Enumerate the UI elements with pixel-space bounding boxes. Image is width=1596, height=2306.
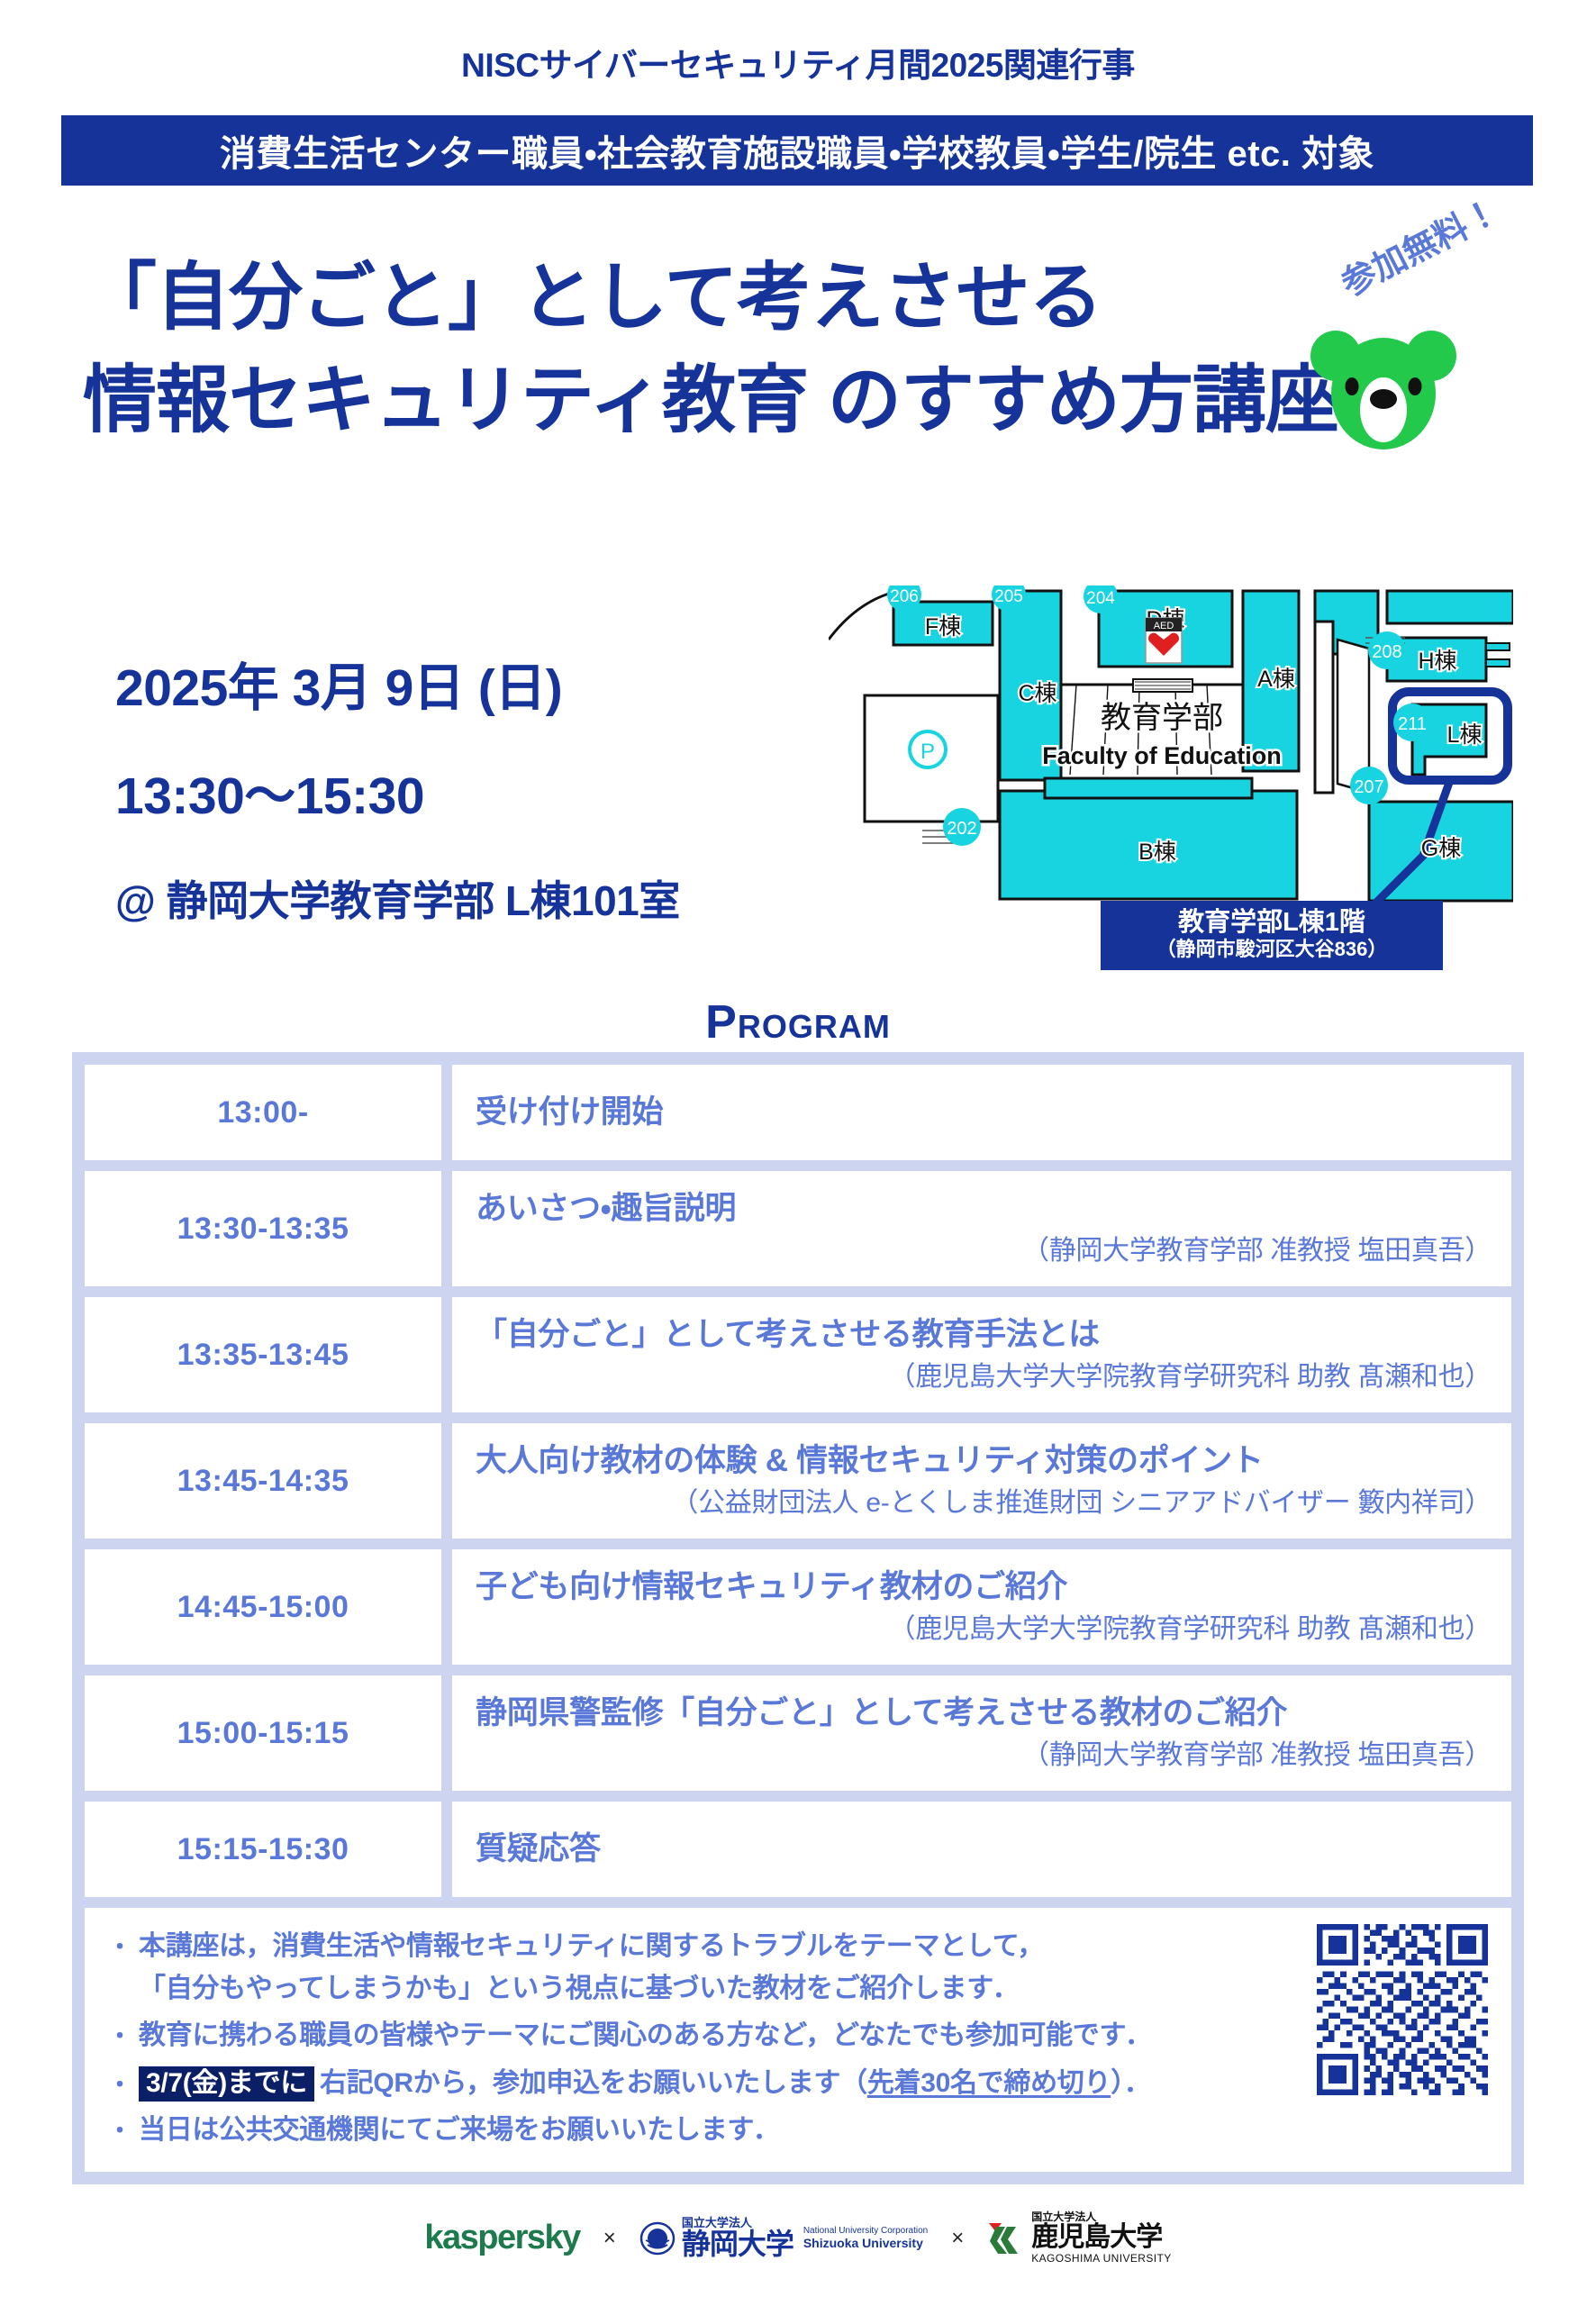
program-title: 子ども向け情報セキュリティ教材のご紹介 bbox=[476, 1567, 1492, 1607]
program-title: 静岡県警監修「自分ごと」として考えさせる教材のご紹介 bbox=[476, 1693, 1492, 1733]
program-title: 大人向け教材の体験 & 情報セキュリティ対策のポイント bbox=[476, 1441, 1492, 1481]
note-line-3: 教育に携わる職員の皆様やテーマにご関心のある方など，どなたでも参加可能です． bbox=[139, 2017, 1488, 2056]
list-item: ・ 教育に携わる職員の皆様やテーマにご関心のある方など，どなたでも参加可能です． bbox=[108, 2017, 1488, 2056]
map-caption-line-2: （静岡市駿河区大谷836） bbox=[1101, 938, 1443, 962]
program-speaker: （鹿児島大学大学院教育学研究科 助教 髙瀬和也） bbox=[476, 1360, 1492, 1394]
audience-banner-label: 消費生活センター職員・社会教育施設職員・学校教員・学生/院生 etc. 対象 bbox=[220, 124, 1374, 177]
footer-logos: kaspersky × 国立大学法人 静岡大学 National Univers… bbox=[0, 2211, 1596, 2265]
capacity-note: 先着30名で締め切り bbox=[867, 2068, 1111, 2098]
note-line-1: 本講座は，消費生活や情報セキュリティに関するトラブルをテーマとして， bbox=[139, 1928, 1488, 1966]
program-detail: 質疑応答 bbox=[452, 1802, 1511, 1897]
note-line-4: 3/7(金)までに右記QRから，参加申込をお願いいたします（先着30名で締め切り… bbox=[139, 2065, 1488, 2103]
eyebrow-text: NISCサイバーセキュリティ月間2025関連行事 bbox=[0, 38, 1596, 86]
table-row: 13:35-13:45 「自分ごと」として考えさせる教育手法とは （鹿児島大学大… bbox=[85, 1297, 1511, 1412]
kaspersky-logo: kaspersky bbox=[424, 2219, 579, 2257]
program-speaker: （静岡大学教育学部 准教授 塩田真吾） bbox=[476, 1234, 1492, 1268]
event-info: 2025年 3月 9日 (日) 13:30〜15:30 @ 静岡大学教育学部 L… bbox=[115, 647, 800, 928]
program-detail: 「自分ごと」として考えさせる教育手法とは （鹿児島大学大学院教育学研究科 助教 … bbox=[452, 1297, 1511, 1412]
list-item: ・ 本講座は，消費生活や情報セキュリティに関するトラブルをテーマとして， bbox=[108, 1928, 1488, 1966]
bullet-icon: ・ bbox=[108, 2065, 139, 2102]
map-caption-line-1: 教育学部L棟1階 bbox=[1101, 907, 1443, 938]
page-title: 「自分ごと」として考えさせる 情報セキュリティ教育 のすすめ方講座 bbox=[83, 257, 1398, 442]
program-detail: 大人向け教材の体験 & 情報セキュリティ対策のポイント （公益財団法人 e-とく… bbox=[452, 1423, 1511, 1539]
shizuoka-university-logo: 国立大学法人 静岡大学 National University Corporat… bbox=[639, 2217, 928, 2260]
kagoshima-text-group: 国立大学法人 鹿児島大学 KAGOSHIMA UNIVERSITY bbox=[1031, 2211, 1171, 2265]
program-title: あいさつ・趣旨説明 bbox=[476, 1189, 1492, 1229]
poster-root: NISCサイバーセキュリティ月間2025関連行事 消費生活センター職員・社会教育… bbox=[0, 0, 1596, 2306]
program-time: 13:45-14:35 bbox=[85, 1423, 441, 1539]
map-address-caption: 教育学部L棟1階 （静岡市駿河区大谷836） bbox=[1101, 901, 1443, 970]
program-speaker: （公益財団法人 e-とくしま推進財団 シニアアドバイザー 籔内祥司） bbox=[476, 1486, 1492, 1521]
map-label-L: L棟 bbox=[1447, 722, 1483, 748]
note-line-4-before: 右記QRから，参加申込をお願いいたします（ bbox=[320, 2068, 867, 2098]
program-title: 「自分ごと」として考えさせる教育手法とは bbox=[476, 1315, 1492, 1355]
svg-text:211: 211 bbox=[1398, 714, 1427, 734]
program-detail: あいさつ・趣旨説明 （静岡大学教育学部 准教授 塩田真吾） bbox=[452, 1171, 1511, 1286]
map-aed-label: AED bbox=[1154, 621, 1174, 631]
list-item: ・ 当日は公共交通機関にてご来場をお願いいたします． bbox=[108, 2111, 1488, 2150]
kagoshima-name-jp: 鹿児島大学 bbox=[1031, 2223, 1171, 2252]
shizuoka-name-en: Shizuoka University bbox=[803, 2236, 928, 2250]
note-line-2: 「自分もやってしまうかも」という視点に基づいた教材をご紹介します． bbox=[108, 1970, 1488, 2009]
svg-text:205: 205 bbox=[994, 587, 1023, 606]
table-row: 13:30-13:35 あいさつ・趣旨説明 （静岡大学教育学部 准教授 塩田真吾… bbox=[85, 1171, 1511, 1286]
kagoshima-crest-icon bbox=[987, 2220, 1025, 2257]
program-heading: Program bbox=[0, 995, 1596, 1049]
map-label-B: B棟 bbox=[1138, 840, 1176, 865]
logo-separator-1: × bbox=[603, 2226, 616, 2251]
program-time: 13:35-13:45 bbox=[85, 1297, 441, 1412]
map-faculty-jp: 教育学部 bbox=[1101, 701, 1223, 735]
event-date: 2025年 3月 9日 (日) bbox=[115, 647, 800, 721]
bullet-icon: ・ bbox=[108, 2017, 139, 2056]
shizuoka-text-group: 国立大学法人 静岡大学 bbox=[682, 2217, 793, 2260]
program-table: 13:00- 受け付け開始 13:30-13:35 あいさつ・趣旨説明 （静岡大… bbox=[72, 1052, 1524, 2184]
program-detail: 静岡県警監修「自分ごと」として考えさせる教材のご紹介 （静岡大学教育学部 准教授… bbox=[452, 1675, 1511, 1791]
program-speaker: （静岡大学教育学部 准教授 塩田真吾） bbox=[476, 1739, 1492, 1773]
notes-block: ・ 本講座は，消費生活や情報セキュリティに関するトラブルをテーマとして， 「自分… bbox=[85, 1908, 1511, 2172]
bullet-icon: ・ bbox=[108, 1928, 139, 1966]
svg-text:206: 206 bbox=[890, 587, 919, 606]
title-line-1: 「自分ごと」として考えさせる bbox=[83, 257, 1398, 340]
map-parking-label: P bbox=[920, 740, 935, 764]
program-detail: 受け付け開始 bbox=[452, 1065, 1511, 1160]
program-time: 15:00-15:15 bbox=[85, 1675, 441, 1791]
program-title: 質疑応答 bbox=[476, 1829, 1492, 1869]
svg-text:208: 208 bbox=[1372, 642, 1401, 662]
table-row: 13:00- 受け付け開始 bbox=[85, 1065, 1511, 1160]
note-line-5: 当日は公共交通機関にてご来場をお願いいたします． bbox=[139, 2111, 1488, 2150]
program-time: 15:15-15:30 bbox=[85, 1802, 441, 1897]
event-place: @ 静岡大学教育学部 L棟101室 bbox=[115, 868, 800, 928]
list-item: ・ 3/7(金)までに右記QRから，参加申込をお願いいたします（先着30名で締め… bbox=[108, 2065, 1488, 2103]
bear-mascot-icon bbox=[1308, 320, 1459, 457]
program-title: 受け付け開始 bbox=[476, 1093, 1492, 1132]
table-row: 14:45-15:00 子ども向け情報セキュリティ教材のご紹介 （鹿児島大学大学… bbox=[85, 1549, 1511, 1665]
svg-text:207: 207 bbox=[1354, 777, 1383, 797]
shizuoka-english-group: National University Corporation Shizuoka… bbox=[803, 2226, 928, 2251]
program-speaker: （鹿児島大学大学院教育学研究科 助教 髙瀬和也） bbox=[476, 1612, 1492, 1647]
free-participation-badge: 参加無料！ bbox=[1331, 184, 1506, 305]
table-row: 13:45-14:35 大人向け教材の体験 & 情報セキュリティ対策のポイント … bbox=[85, 1423, 1511, 1539]
kagoshima-name-en: KAGOSHIMA UNIVERSITY bbox=[1031, 2252, 1171, 2265]
program-detail: 子ども向け情報セキュリティ教材のご紹介 （鹿児島大学大学院教育学研究科 助教 髙… bbox=[452, 1549, 1511, 1665]
bullet-icon: ・ bbox=[108, 2111, 139, 2150]
table-row: 15:15-15:30 質疑応答 bbox=[85, 1802, 1511, 1897]
audience-banner: 消費生活センター職員・社会教育施設職員・学校教員・学生/院生 etc. 対象 bbox=[61, 115, 1533, 186]
program-time: 13:30-13:35 bbox=[85, 1171, 441, 1286]
table-row: 15:00-15:15 静岡県警監修「自分ごと」として考えさせる教材のご紹介 （… bbox=[85, 1675, 1511, 1791]
map-label-A: A棟 bbox=[1257, 667, 1295, 692]
deadline-badge: 3/7(金)までに bbox=[139, 2066, 314, 2102]
map-label-G: G棟 bbox=[1421, 836, 1461, 861]
svg-text:202: 202 bbox=[947, 819, 976, 839]
shizuoka-corp-en: National University Corporation bbox=[803, 2226, 928, 2237]
event-time: 13:30〜15:30 bbox=[115, 755, 800, 829]
program-time: 14:45-15:00 bbox=[85, 1549, 441, 1665]
title-line-2: 情報セキュリティ教育 のすすめ方講座 bbox=[83, 359, 1398, 442]
map-label-H: H棟 bbox=[1418, 649, 1456, 674]
map-faculty-en: Faculty of Education bbox=[1042, 742, 1282, 769]
shizuoka-name-jp: 静岡大学 bbox=[682, 2229, 793, 2260]
svg-text:204: 204 bbox=[1086, 589, 1115, 608]
logo-separator-2: × bbox=[951, 2226, 964, 2251]
qr-code[interactable] bbox=[1317, 1924, 1488, 2095]
shizuoka-crest-icon bbox=[639, 2220, 676, 2256]
map-label-C: C棟 bbox=[1018, 681, 1056, 706]
kagoshima-university-logo: 国立大学法人 鹿児島大学 KAGOSHIMA UNIVERSITY bbox=[987, 2211, 1171, 2265]
map-label-F: F棟 bbox=[925, 614, 961, 640]
campus-map: P F棟 bbox=[829, 586, 1513, 919]
program-time: 13:00- bbox=[85, 1065, 441, 1160]
note-line-4-after: ）． bbox=[1111, 2068, 1150, 2098]
